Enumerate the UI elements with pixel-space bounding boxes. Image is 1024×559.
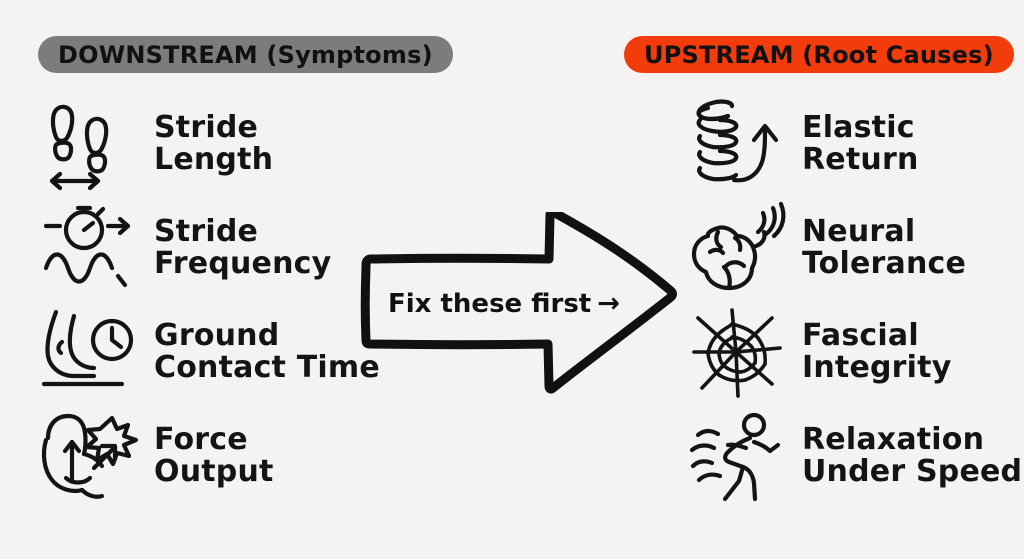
list-item-label: Force Output (154, 424, 274, 488)
list-item-line2: Integrity (802, 352, 951, 384)
footprints-stride-icon (40, 96, 138, 192)
list-item: Neural Tolerance (688, 196, 1024, 300)
list-item-label: Relaxation Under Speed (802, 424, 1022, 488)
header-upstream-label: UPSTREAM (Root Causes) (644, 41, 994, 69)
arrow-right-icon: → (597, 288, 620, 319)
list-item-line1: Elastic (802, 110, 915, 145)
list-item-line2: Length (154, 144, 273, 176)
header-pill-upstream: UPSTREAM (Root Causes) (624, 36, 1014, 73)
stopwatch-wave-icon (40, 200, 138, 296)
list-item-line2: Contact Time (154, 352, 380, 384)
list-item-line2: Output (154, 456, 274, 488)
brain-signal-icon (688, 200, 786, 296)
spider-web-icon (688, 304, 786, 400)
list-item-line1: Relaxation (802, 422, 984, 457)
center-arrow: Fix these first→ (360, 212, 680, 398)
foot-clock-icon (40, 304, 138, 400)
list-item-label: Neural Tolerance (802, 216, 966, 280)
bicep-burst-icon (40, 408, 138, 504)
whiteboard-canvas: DOWNSTREAM (Symptoms) UPSTREAM (Root Cau… (0, 0, 1024, 559)
list-item-label: Elastic Return (802, 112, 919, 176)
upstream-column: Elastic Return (688, 92, 1024, 508)
list-item-line2: Under Speed (802, 456, 1022, 488)
header-downstream-label: DOWNSTREAM (Symptoms) (58, 41, 433, 69)
list-item: Stride Length (40, 92, 460, 196)
list-item-line1: Ground (154, 318, 279, 353)
list-item-line2: Tolerance (802, 248, 966, 280)
list-item-label: Ground Contact Time (154, 320, 380, 384)
list-item-line2: Return (802, 144, 919, 176)
list-item-label: Stride Frequency (154, 216, 331, 280)
list-item-line2: Frequency (154, 248, 331, 280)
list-item-line1: Stride (154, 214, 258, 249)
list-item: Elastic Return (688, 92, 1024, 196)
list-item-line1: Stride (154, 110, 258, 145)
spring-arrow-icon (688, 96, 786, 192)
center-arrow-label: Fix these first→ (388, 288, 608, 319)
running-figure-icon (688, 408, 786, 504)
center-arrow-text: Fix these first (388, 289, 591, 319)
list-item-line1: Neural (802, 214, 915, 249)
header-pill-downstream: DOWNSTREAM (Symptoms) (38, 36, 453, 73)
list-item-label: Stride Length (154, 112, 273, 176)
list-item: Relaxation Under Speed (688, 404, 1024, 508)
list-item: Fascial Integrity (688, 300, 1024, 404)
list-item-line1: Force (154, 422, 248, 457)
list-item-line1: Fascial (802, 318, 919, 353)
list-item: Force Output (40, 404, 460, 508)
list-item-label: Fascial Integrity (802, 320, 951, 384)
